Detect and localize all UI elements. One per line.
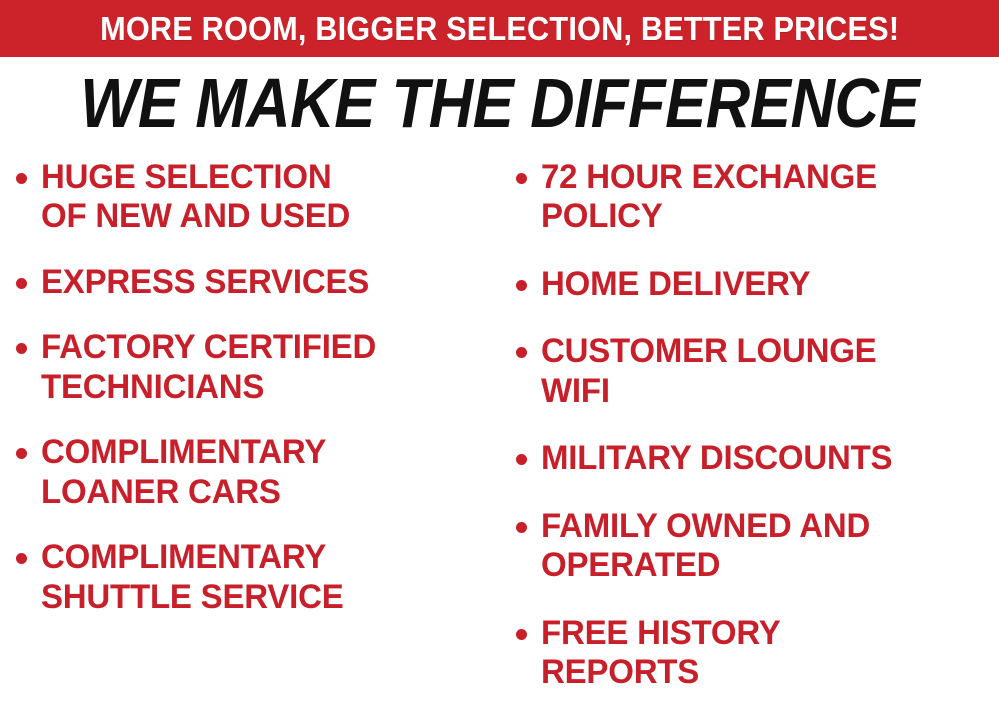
bullet-dot-icon [516,347,527,358]
list-item-label: HOME DELIVERY [541,265,985,304]
bullet-dot-icon [516,173,527,184]
list-item-label: CUSTOMER LOUNGE WIFI [541,332,985,411]
page-title: WE MAKE THE DIFFERENCE [80,68,919,138]
features-columns: HUGE SELECTION OF NEW AND USED EXPRESS S… [0,152,999,692]
list-item: HUGE SELECTION OF NEW AND USED [16,158,500,237]
list-item: EXPRESS SERVICES [16,263,500,302]
headline-container: WE MAKE THE DIFFERENCE [0,62,999,144]
list-item: FREE HISTORY REPORTS [516,614,999,693]
list-item: FAMILY OWNED AND OPERATED [516,507,999,586]
bullet-dot-icon [516,280,527,291]
list-item: CUSTOMER LOUNGE WIFI [516,332,999,411]
list-item-label: COMPLIMENTARY SHUTTLE SERVICE [41,538,486,617]
bullet-dot-icon [16,343,27,354]
list-item: MILITARY DISCOUNTS [516,439,999,478]
bullet-dot-icon [516,522,527,533]
bullet-dot-icon [16,553,27,564]
list-item-label: FACTORY CERTIFIED TECHNICIANS [41,328,486,407]
list-item: COMPLIMENTARY LOANER CARS [16,433,500,512]
list-item: 72 HOUR EXCHANGE POLICY [516,158,999,237]
bullet-dot-icon [516,454,527,465]
bullet-dot-icon [16,448,27,459]
promo-header-bar: MORE ROOM, BIGGER SELECTION, BETTER PRIC… [0,0,999,57]
list-item-label: EXPRESS SERVICES [41,263,486,302]
list-item-label: COMPLIMENTARY LOANER CARS [41,433,486,512]
features-column-left: HUGE SELECTION OF NEW AND USED EXPRESS S… [0,152,500,643]
features-column-right: 72 HOUR EXCHANGE POLICY HOME DELIVERY CU… [500,152,999,720]
list-item: HOME DELIVERY [516,265,999,304]
list-item-label: FAMILY OWNED AND OPERATED [541,507,985,586]
list-item-label: HUGE SELECTION OF NEW AND USED [41,158,486,237]
bullet-dot-icon [16,173,27,184]
list-item: FACTORY CERTIFIED TECHNICIANS [16,328,500,407]
bullet-dot-icon [16,278,27,289]
promo-header-text: MORE ROOM, BIGGER SELECTION, BETTER PRIC… [100,12,899,45]
list-item-label: FREE HISTORY REPORTS [541,614,985,693]
list-item-label: 72 HOUR EXCHANGE POLICY [541,158,985,237]
list-item-label: MILITARY DISCOUNTS [541,439,985,478]
list-item: COMPLIMENTARY SHUTTLE SERVICE [16,538,500,617]
bullet-dot-icon [516,629,527,640]
